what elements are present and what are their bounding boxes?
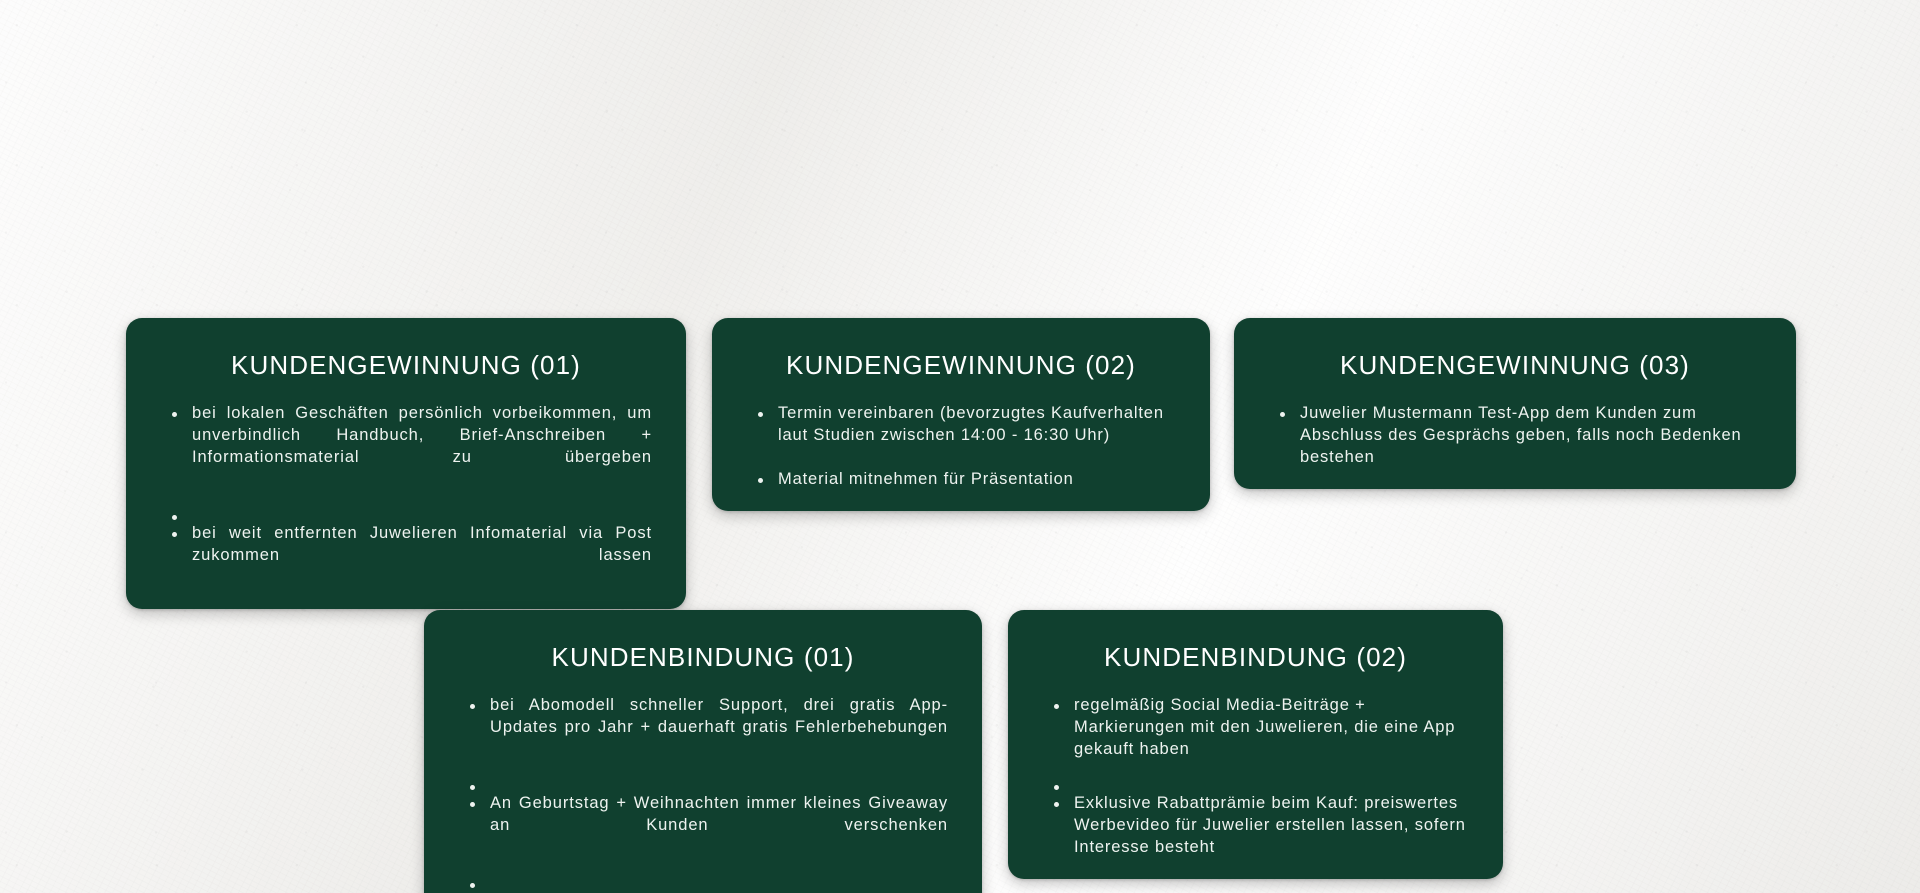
list-item: Termin vereinbaren (bevorzugtes Kaufverh…	[756, 403, 1176, 447]
list-item-text: An Geburtstag + Weihnachten immer kleine…	[490, 793, 948, 859]
list-item: Exklusive Rabattprämie beim Kauf: preisw…	[1052, 793, 1469, 859]
card-kundenbindung-01[interactable]: KUNDENBINDUNG (01) bei Abomodell schnell…	[424, 610, 982, 893]
list-item-text: bei weit entfernten Juwelieren Infomater…	[192, 523, 652, 589]
bullet-list: Termin vereinbaren (bevorzugtes Kaufverh…	[742, 403, 1180, 491]
list-item: bei lokalen Geschäften persönlich vorbei…	[170, 403, 652, 491]
list-item-text: Exklusive Rabattprämie beim Kauf: preisw…	[1074, 794, 1466, 856]
list-item: regelmäßig Social Media-Beiträge + Marki…	[1052, 695, 1469, 761]
card-title: KUNDENBINDUNG (02)	[1038, 642, 1473, 673]
card-title: KUNDENGEWINNUNG (02)	[742, 350, 1180, 381]
list-item-text: Material mitnehmen für Präsentation	[778, 470, 1074, 488]
list-item-text: bei lokalen Geschäften persönlich vorbei…	[192, 403, 652, 491]
list-item: Material mitnehmen für Präsentation	[756, 469, 1176, 491]
card-kundengewinnung-01[interactable]: KUNDENGEWINNUNG (01) bei lokalen Geschäf…	[126, 318, 686, 609]
card-title: KUNDENGEWINNUNG (03)	[1264, 350, 1766, 381]
bullet-list: bei Abomodell schneller Support, drei gr…	[454, 695, 952, 891]
card-title: KUNDENGEWINNUNG (01)	[156, 350, 656, 381]
list-item-empty	[170, 506, 652, 513]
list-item-empty	[1052, 776, 1469, 783]
card-deck: KUNDENGEWINNUNG (01) bei lokalen Geschäf…	[0, 0, 1920, 893]
card-kundengewinnung-03[interactable]: KUNDENGEWINNUNG (03) Juwelier Mustermann…	[1234, 318, 1796, 489]
list-item-empty	[468, 874, 948, 881]
card-title: KUNDENBINDUNG (01)	[454, 642, 952, 673]
list-item-text: bei Abomodell schneller Support, drei gr…	[490, 695, 948, 761]
list-item-text: regelmäßig Social Media-Beiträge + Marki…	[1074, 696, 1455, 758]
bullet-list: Juwelier Mustermann Test-App dem Kunden …	[1264, 403, 1766, 469]
bullet-list: bei lokalen Geschäften persönlich vorbei…	[156, 403, 656, 589]
list-item: bei weit entfernten Juwelieren Infomater…	[170, 523, 652, 589]
bullet-list: regelmäßig Social Media-Beiträge + Marki…	[1038, 695, 1473, 859]
card-kundengewinnung-02[interactable]: KUNDENGEWINNUNG (02) Termin vereinbaren …	[712, 318, 1210, 511]
list-item-empty	[468, 776, 948, 783]
list-item-text: Termin vereinbaren (bevorzugtes Kaufverh…	[778, 404, 1164, 444]
list-item: bei Abomodell schneller Support, drei gr…	[468, 695, 948, 761]
card-kundenbindung-02[interactable]: KUNDENBINDUNG (02) regelmäßig Social Med…	[1008, 610, 1503, 879]
list-item: Juwelier Mustermann Test-App dem Kunden …	[1278, 403, 1762, 469]
list-item-text: Juwelier Mustermann Test-App dem Kunden …	[1300, 404, 1742, 466]
list-item: An Geburtstag + Weihnachten immer kleine…	[468, 793, 948, 859]
